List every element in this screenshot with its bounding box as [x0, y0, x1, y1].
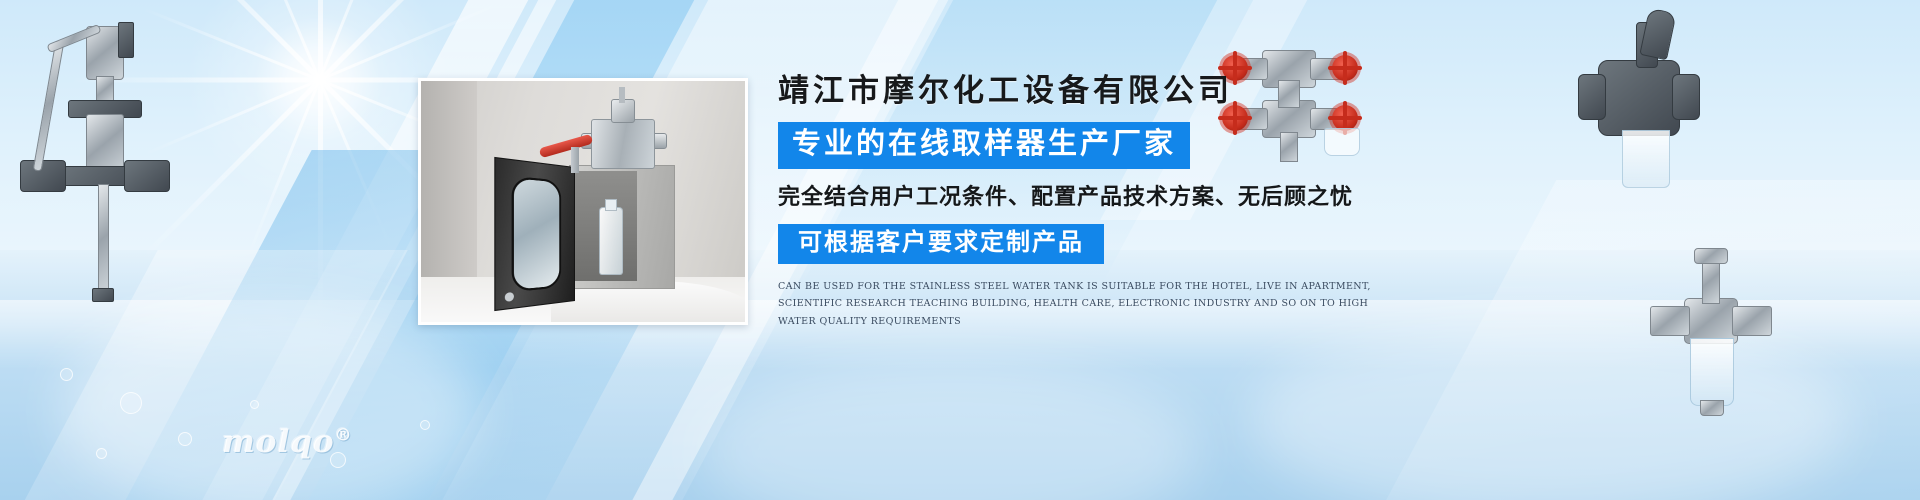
side-valve-right [124, 160, 170, 192]
valve-body-large [1598, 60, 1680, 136]
bubble-icon [178, 432, 192, 446]
bottom-valve-right-port [1732, 306, 1772, 336]
diagonal-band [1344, 180, 1920, 500]
valve-flange-left [1578, 74, 1606, 120]
support-arm [33, 40, 65, 172]
brand-watermark: molqo® [222, 424, 353, 460]
side-valve-left [20, 160, 66, 192]
cable-gland [118, 22, 134, 58]
bubble-icon [120, 392, 142, 414]
diagonal-band [0, 250, 408, 500]
registered-mark-icon: ® [335, 426, 353, 446]
valve-stem [619, 87, 625, 103]
bottom-sight-glass [1690, 338, 1734, 406]
company-name: 靖江市摩尔化工设备有限公司 [778, 74, 1418, 108]
english-description: CAN BE USED FOR THE STAINLESS STEEL WATE… [778, 278, 1388, 331]
door-window [512, 176, 562, 292]
tagline-highlight: 专业的在线取样器生产厂家 [778, 122, 1190, 168]
promo-banner: 靖江市摩尔化工设备有限公司 专业的在线取样器生产厂家 完全结合用户工况条件、配置… [0, 0, 1920, 500]
light-blob [60, 300, 480, 500]
sight-glass [1622, 130, 1670, 188]
product-photo [418, 78, 748, 325]
bottom-valve-stem [1702, 258, 1720, 304]
probe-tip [92, 288, 114, 302]
top-valve-body [591, 119, 655, 169]
bottom-valve-left-port [1650, 306, 1690, 336]
custom-order-highlight: 可根据客户要求定制产品 [778, 224, 1104, 264]
sample-bottle-neck [605, 199, 617, 211]
sample-bottle [599, 207, 623, 275]
banner-text-block: 靖江市摩尔化工设备有限公司 专业的在线取样器生产厂家 完全结合用户工况条件、配置… [778, 74, 1418, 331]
bottom-valve-cap [1694, 248, 1728, 264]
connecting-tube [571, 147, 579, 173]
valve-flange-right [1672, 74, 1700, 120]
bubble-icon [420, 420, 430, 430]
door-lock-icon [505, 292, 514, 302]
bubble-icon [250, 400, 259, 409]
light-blob [700, 360, 1200, 500]
watermark-text: molqo [222, 424, 335, 460]
valve-lever [1639, 8, 1676, 61]
cabinet-door [494, 157, 575, 311]
bubble-icon [96, 448, 107, 459]
probe-rod [98, 184, 109, 296]
bubble-icon [60, 368, 73, 381]
description-text: 完全结合用户工况条件、配置产品技术方案、无后顾之忧 [778, 184, 1418, 210]
bottom-drain [1700, 400, 1724, 416]
light-blob [1250, 320, 1850, 500]
